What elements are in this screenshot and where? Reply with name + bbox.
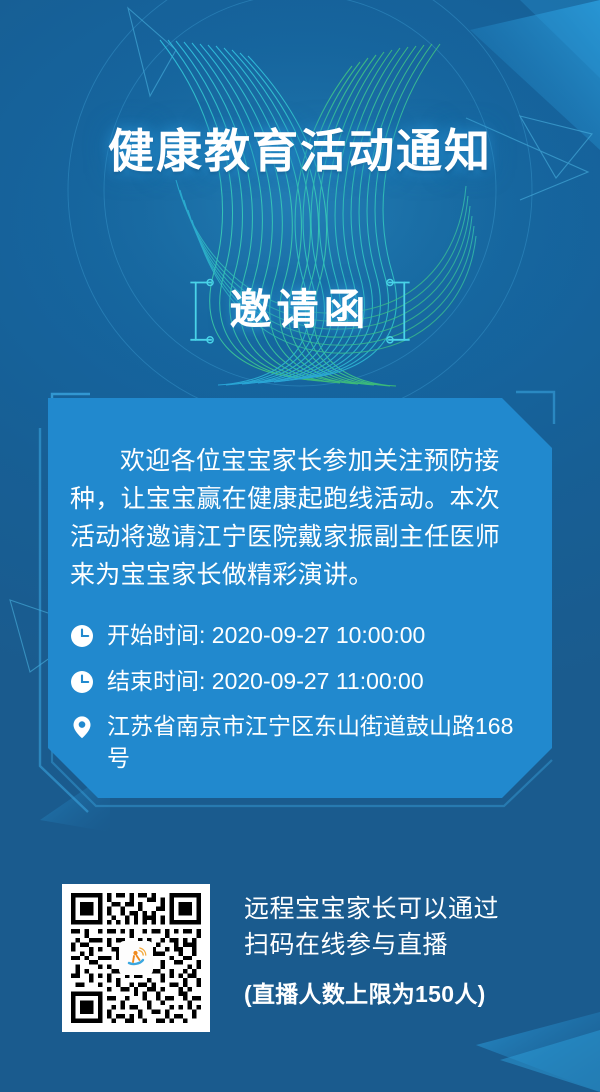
page-title: 健康教育活动通知 [0, 126, 600, 177]
qr-code[interactable] [62, 884, 210, 1032]
bracket-left-decoration [187, 278, 217, 344]
event-details-list: 开始时间: 2020-09-27 10:00:00 结束时间: 2020-09-… [70, 620, 524, 775]
qr-center-logo-icon [119, 941, 153, 975]
event-info-card: 欢迎各位宝宝家长参加关注预防接种，让宝宝赢在健康起跑线活动。本次活动将邀请江宁医… [48, 398, 552, 798]
footer-section: 远程宝宝家长可以通过 扫码在线参与直播 (直播人数上限为150人) [62, 884, 542, 1032]
clock-icon [70, 624, 94, 648]
end-time-row: 结束时间: 2020-09-27 11:00:00 [70, 666, 524, 698]
invitation-label-container: 邀请函 [0, 278, 600, 344]
event-description: 欢迎各位宝宝家长参加关注预防接种，让宝宝赢在健康起跑线活动。本次活动将邀请江宁医… [70, 442, 524, 594]
location-text: 江苏省南京市江宁区东山街道鼓山路168号 [107, 711, 524, 774]
poster-root: 健康教育活动通知 邀请函 [0, 0, 600, 1092]
invitation-label: 邀请函 [229, 286, 370, 333]
footer-line-2: 扫码在线参与直播 [244, 928, 542, 964]
footer-caption: 远程宝宝家长可以通过 扫码在线参与直播 (直播人数上限为150人) [210, 884, 542, 1009]
end-time-text: 结束时间: 2020-09-27 11:00:00 [107, 666, 524, 698]
start-time-row: 开始时间: 2020-09-27 10:00:00 [70, 620, 524, 652]
location-row: 江苏省南京市江宁区东山街道鼓山路168号 [70, 711, 524, 774]
start-time-text: 开始时间: 2020-09-27 10:00:00 [107, 620, 524, 652]
location-pin-icon [70, 715, 94, 739]
footer-capacity-note: (直播人数上限为150人) [244, 975, 542, 1009]
clock-icon [70, 670, 94, 694]
bracket-right-decoration [383, 278, 413, 344]
page-title-container: 健康教育活动通知 [0, 126, 600, 177]
footer-line-1: 远程宝宝家长可以通过 [244, 892, 542, 928]
